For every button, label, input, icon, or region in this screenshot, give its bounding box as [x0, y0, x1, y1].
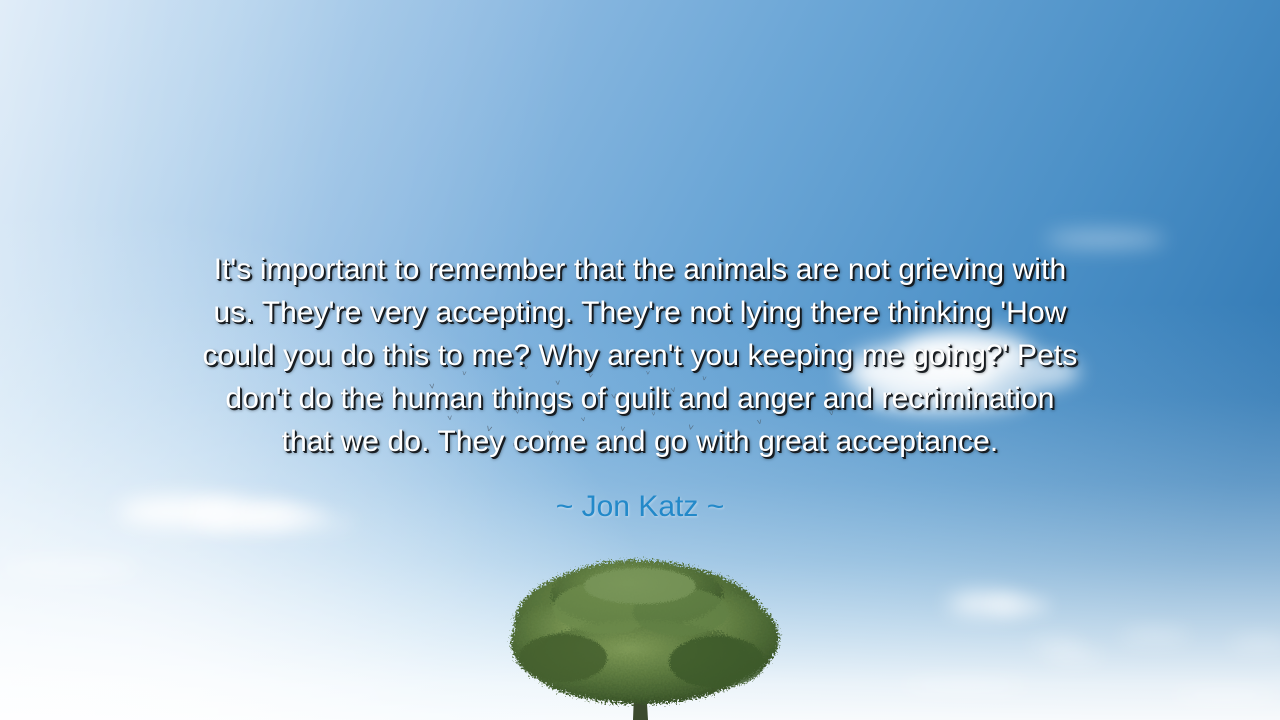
quote-content: It's important to remember that the anim…: [0, 248, 1280, 525]
tree-layer: [0, 550, 1280, 720]
quote-text: It's important to remember that the anim…: [64, 248, 1216, 463]
quote-attribution: ~ Jon Katz ~: [64, 489, 1216, 525]
lone-tree-icon: [485, 550, 795, 720]
quote-image-card: ⱽⱽⱽⱽⱽⱽⱽⱽⱽⱽⱽⱽⱽⱽⱽⱽⱽⱽⱽⱽⱽⱽⱽⱽⱽⱽⱽⱽⱽⱽ: [0, 0, 1280, 720]
